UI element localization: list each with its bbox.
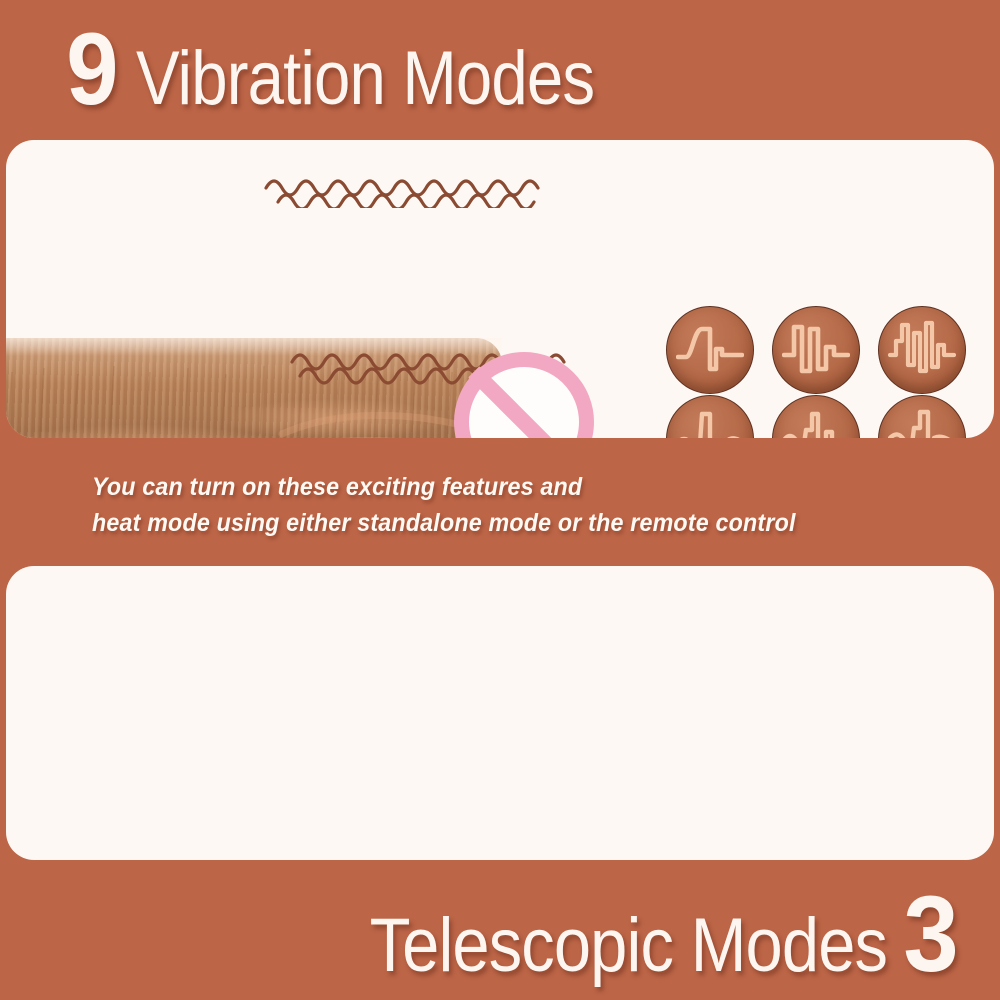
vibration-mode-icon-4[interactable] xyxy=(666,395,754,438)
vibration-mode-icon-5[interactable] xyxy=(772,395,860,438)
vibration-mode-icon-grid xyxy=(666,306,966,438)
top-heading: 9 Vibration Modes xyxy=(64,18,669,120)
vibration-mode-icon-1[interactable] xyxy=(666,306,754,394)
vibration-mode-icon-2[interactable] xyxy=(772,306,860,394)
infographic-poster: 9 Vibration Modes xyxy=(0,0,1000,1000)
caption-line-2: heat mode using either standalone mode o… xyxy=(92,506,873,542)
vibration-wave-lines-top xyxy=(256,148,586,208)
top-heading-number: 9 xyxy=(66,18,117,120)
feature-caption: You can turn on these exciting features … xyxy=(92,470,873,541)
telescopic-panel xyxy=(6,566,994,860)
censor-slash xyxy=(468,366,580,438)
vibration-panel xyxy=(6,140,994,438)
bottom-heading-words: Telescopic Modes xyxy=(369,908,887,984)
caption-line-1: You can turn on these exciting features … xyxy=(92,470,873,506)
vibration-mode-icon-6[interactable] xyxy=(878,395,966,438)
bottom-heading-number: 3 xyxy=(903,880,957,988)
vibration-mode-icon-3[interactable] xyxy=(878,306,966,394)
bottom-heading: Telescopic Modes 3 xyxy=(299,880,960,988)
top-heading-words: Vibration Modes xyxy=(136,41,594,117)
